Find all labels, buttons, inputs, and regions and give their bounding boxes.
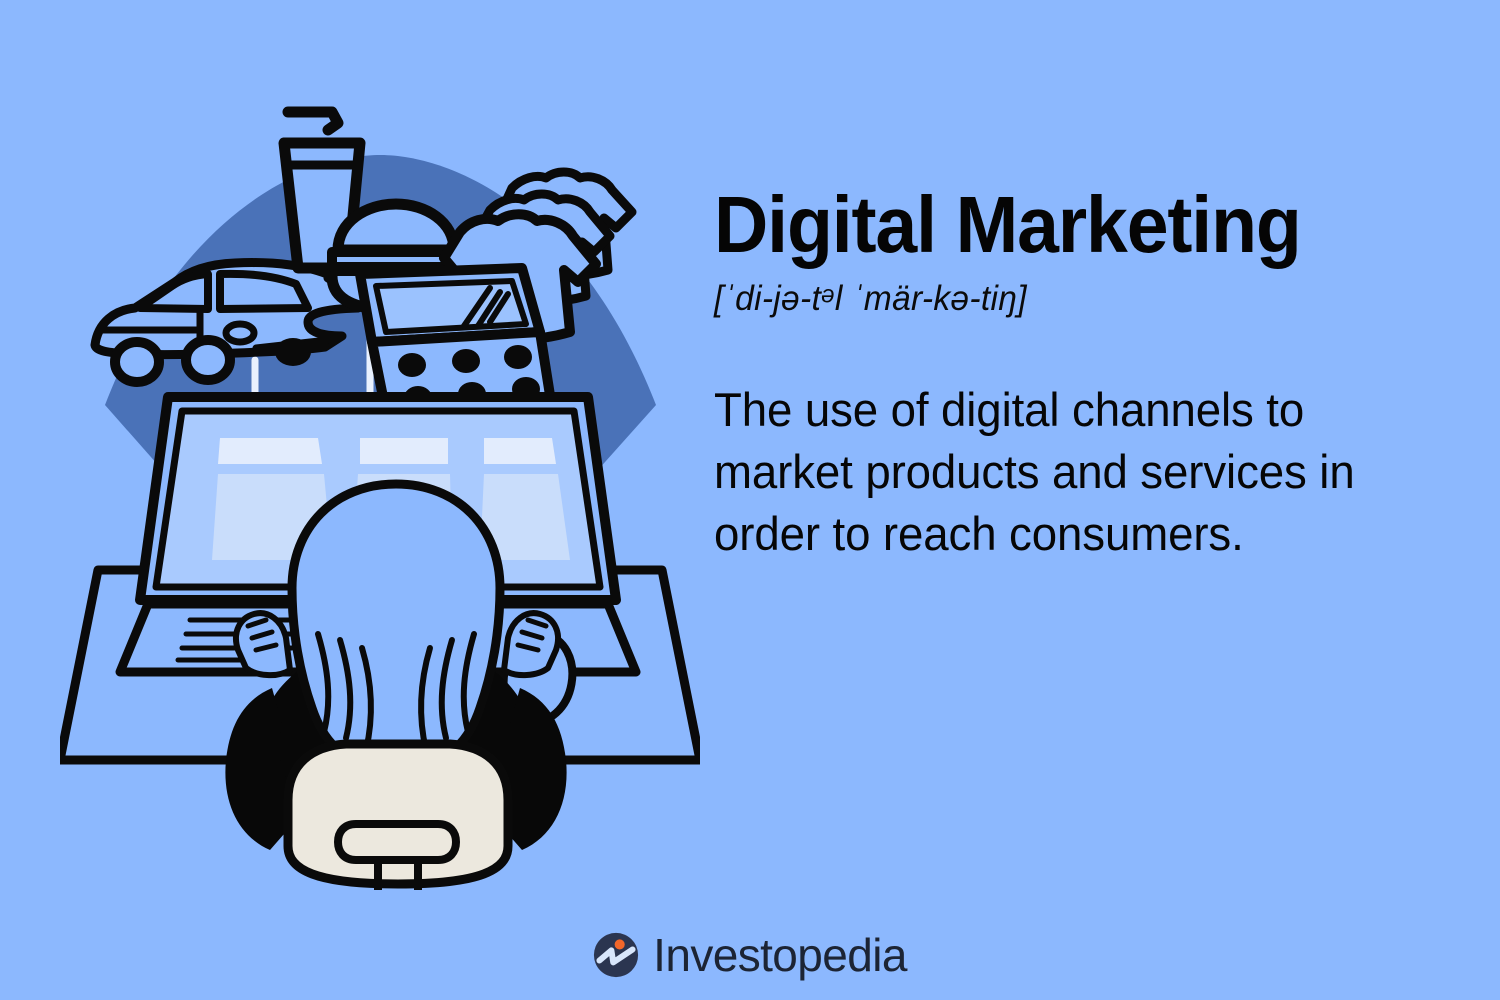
- brand-name: Investopedia: [653, 932, 907, 978]
- investopedia-circle-i-logo: [593, 932, 639, 978]
- pronunciation-suffix: l ˈmär-kə-tiŋ]: [835, 279, 1027, 318]
- office-chair: [288, 744, 508, 890]
- definition-text: The use of digital channels to market pr…: [714, 379, 1383, 565]
- hand-right: [504, 613, 558, 675]
- definition-card: Digital Marketing [ˈdi-jə-təl ˈmär-kə-ti…: [0, 0, 1500, 1000]
- illustration-person-at-laptop: [60, 60, 700, 890]
- hand-left: [236, 613, 290, 675]
- pronunciation: [ˈdi-jə-təl ˈmär-kə-tiŋ]: [714, 280, 1386, 319]
- investopedia-logo: Investopedia: [0, 932, 1500, 978]
- pronunciation-schwa: ə: [821, 281, 835, 309]
- definition-text-column: Digital Marketing [ˈdi-jə-təl ˈmär-kə-ti…: [714, 186, 1414, 565]
- pronunciation-prefix: [ˈdi-jə-t: [714, 279, 821, 318]
- page-title: Digital Marketing: [714, 186, 1372, 264]
